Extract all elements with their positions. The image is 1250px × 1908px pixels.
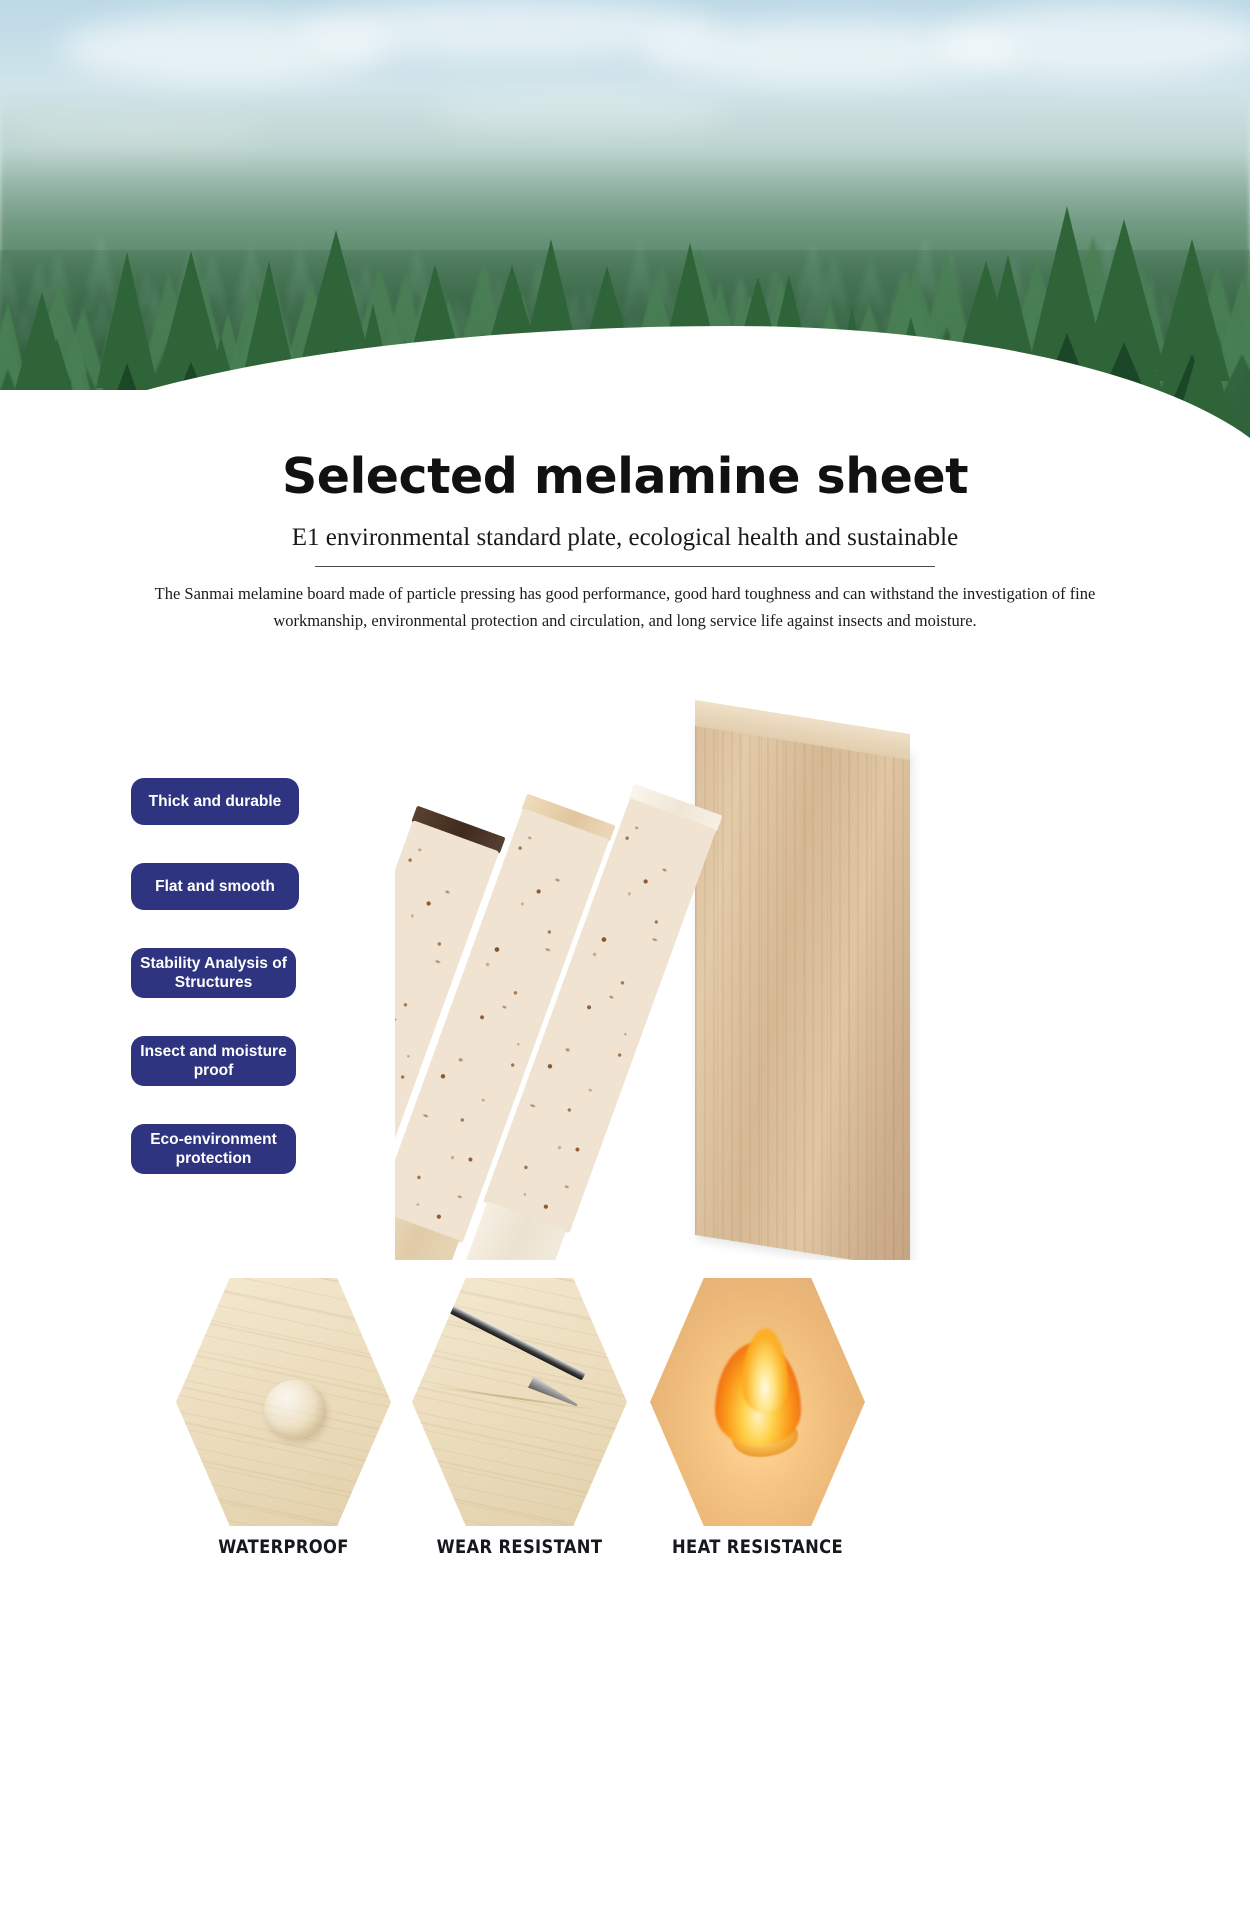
product-board-image bbox=[395, 690, 1035, 1260]
back-board-grain bbox=[695, 715, 910, 1260]
benefit-wear-resistant[interactable]: WEAR RESISTANT bbox=[412, 1278, 627, 1526]
page-subtitle: E1 environmental standard plate, ecologi… bbox=[0, 524, 1250, 552]
wood-surface bbox=[412, 1278, 627, 1526]
hero-banner bbox=[0, 0, 1250, 510]
hexagon-shape bbox=[412, 1278, 627, 1526]
feature-pill-insect-moisture-proof[interactable]: Insect and moisture proof bbox=[131, 1036, 296, 1086]
cloud bbox=[940, 4, 1250, 78]
feature-pill-flat-and-smooth[interactable]: Flat and smooth bbox=[131, 863, 299, 910]
benefit-label-waterproof: WATERPROOF bbox=[191, 1536, 376, 1558]
page-description: The Sanmai melamine board made of partic… bbox=[140, 580, 1110, 634]
hexagon-shape bbox=[176, 1278, 391, 1526]
benefit-heat-resistance[interactable]: HEAT RESISTANCE bbox=[650, 1278, 865, 1526]
benefit-waterproof[interactable]: WATERPROOF bbox=[176, 1278, 391, 1526]
page-title: Selected melamine sheet bbox=[0, 448, 1250, 505]
benefit-hexagon-row: WATERPROOF WEAR RESISTANT HEAT RESISTANC… bbox=[0, 1272, 1250, 1592]
benefit-label-wear-resistant: WEAR RESISTANT bbox=[427, 1536, 612, 1558]
water-droplet-icon bbox=[264, 1380, 326, 1440]
divider bbox=[315, 566, 935, 567]
benefit-label-heat-resistance: HEAT RESISTANCE bbox=[665, 1536, 850, 1558]
feature-pill-list: Thick and durable Flat and smooth Stabil… bbox=[131, 778, 371, 1212]
hexagon-shape bbox=[650, 1278, 865, 1526]
feature-pill-stability-analysis[interactable]: Stability Analysis of Structures bbox=[131, 948, 296, 998]
feature-pill-thick-and-durable[interactable]: Thick and durable bbox=[131, 778, 299, 825]
feature-pill-eco-environment[interactable]: Eco-environment protection bbox=[131, 1124, 296, 1174]
